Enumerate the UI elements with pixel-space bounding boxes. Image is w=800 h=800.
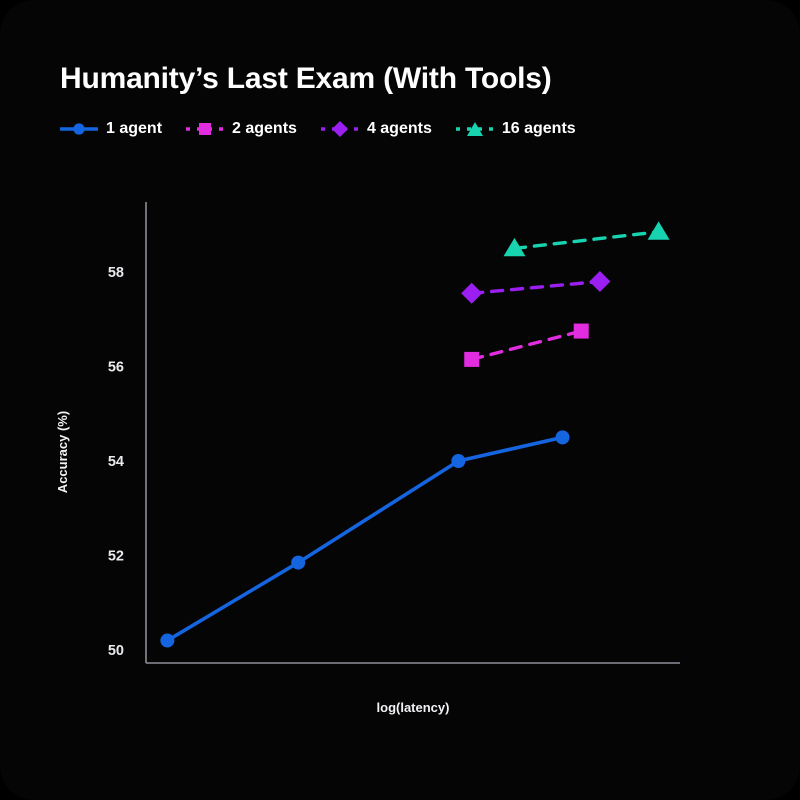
y-axis-tick: 58 bbox=[108, 265, 124, 281]
y-axis-tick: 56 bbox=[108, 360, 124, 376]
series-1-agent bbox=[160, 430, 569, 647]
y-axis-tick: 54 bbox=[108, 454, 124, 470]
series-line bbox=[515, 232, 659, 249]
series-line bbox=[167, 437, 562, 640]
series-16-agents bbox=[504, 221, 670, 256]
data-point-marker[interactable] bbox=[291, 556, 305, 570]
y-axis-tick-labels: 5052545658 bbox=[108, 265, 124, 659]
y-axis-label: Accuracy (%) bbox=[55, 411, 70, 493]
y-axis-tick: 52 bbox=[108, 549, 124, 565]
x-axis-label: log(latency) bbox=[377, 700, 450, 715]
data-point-marker[interactable] bbox=[589, 271, 610, 292]
data-point-marker[interactable] bbox=[648, 221, 670, 239]
y-axis-tick: 50 bbox=[108, 643, 124, 659]
series-2-agents bbox=[464, 324, 588, 367]
data-point-marker[interactable] bbox=[464, 352, 479, 367]
data-point-marker[interactable] bbox=[574, 324, 589, 339]
series-line bbox=[472, 282, 600, 294]
data-point-marker[interactable] bbox=[451, 454, 465, 468]
chart-plot-area: 5052545658 log(latency) Accuracy (%) bbox=[0, 0, 800, 800]
data-point-marker[interactable] bbox=[160, 634, 174, 648]
series-line bbox=[472, 331, 582, 359]
data-series-layer bbox=[160, 221, 669, 647]
data-point-marker[interactable] bbox=[556, 430, 570, 444]
series-4-agents bbox=[461, 271, 610, 304]
data-point-marker[interactable] bbox=[461, 283, 482, 304]
chart-card: Humanity’s Last Exam (With Tools) 1 agen… bbox=[0, 0, 800, 800]
